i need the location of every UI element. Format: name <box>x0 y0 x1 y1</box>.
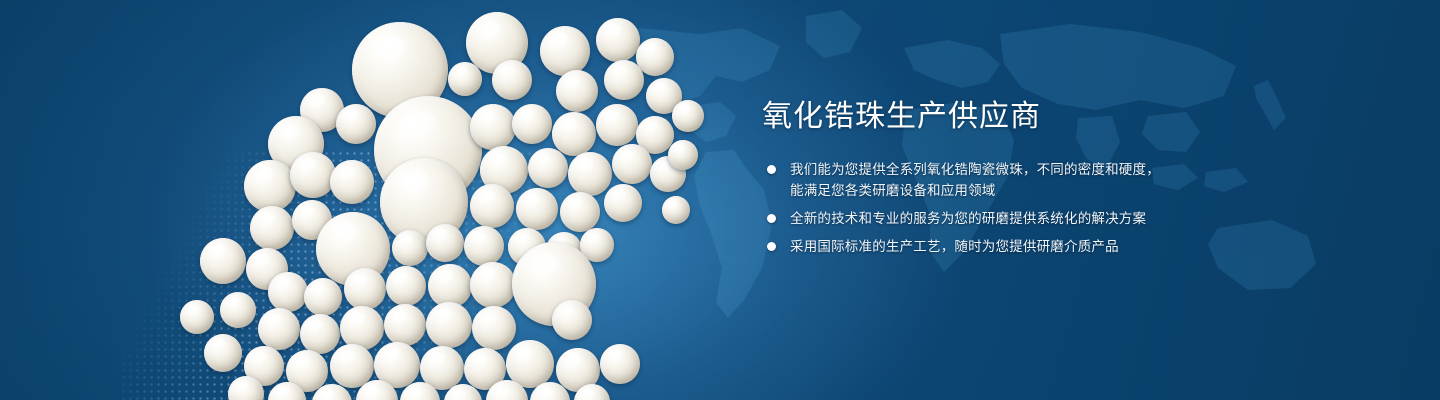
zirconia-bead <box>228 376 264 400</box>
zirconia-bead <box>246 248 288 290</box>
feature-bullet-line: 采用国际标准的生产工艺，随时为您提供研磨介质产品 <box>790 236 1232 257</box>
zirconia-bead <box>672 100 704 132</box>
zirconia-bead <box>552 300 592 340</box>
zirconia-bead <box>636 38 674 76</box>
bullet-dot-icon <box>767 242 776 251</box>
zirconia-bead <box>568 152 612 196</box>
bullet-dot-icon <box>767 165 776 174</box>
zirconia-bead <box>292 200 332 240</box>
zirconia-bead <box>386 266 426 306</box>
zirconia-bead <box>392 230 428 266</box>
zirconia-bead <box>426 302 472 348</box>
page-title: 氧化锆珠生产供应商 <box>762 100 1232 133</box>
zirconia-bead <box>530 382 570 400</box>
zirconia-bead <box>244 346 284 386</box>
zirconia-bead <box>180 300 214 334</box>
zirconia-bead <box>204 334 242 372</box>
zirconia-bead <box>492 60 532 100</box>
zirconia-bead <box>604 60 644 100</box>
zirconia-bead <box>546 232 582 268</box>
zirconia-bead <box>340 306 384 350</box>
zirconia-bead <box>420 346 464 390</box>
zirconia-bead <box>636 116 674 154</box>
zirconia-bead <box>258 308 300 350</box>
zirconia-bead <box>286 350 328 392</box>
zirconia-bead <box>200 238 246 284</box>
zirconia-bead <box>330 160 374 204</box>
zirconia-bead <box>516 188 558 230</box>
zirconia-bead <box>650 156 686 192</box>
zirconia-bead <box>512 242 596 326</box>
zirconia-bead <box>448 62 482 96</box>
zirconia-bead <box>486 380 528 400</box>
feature-bullet-line: 能满足您各类研磨设备和应用领域 <box>790 180 1232 201</box>
zirconia-bead <box>300 314 340 354</box>
zirconia-bead <box>268 116 324 172</box>
zirconia-bead <box>512 104 552 144</box>
zirconia-bead <box>344 268 386 310</box>
zirconia-bead <box>540 26 590 76</box>
zirconia-beads-image <box>0 0 760 400</box>
zirconia-bead <box>268 272 308 312</box>
banner-copy: 氧化锆珠生产供应商 我们能为您提供全系列氧化锆陶瓷微珠，不同的密度和硬度，能满足… <box>762 100 1232 257</box>
zirconia-bead <box>480 146 528 194</box>
zirconia-bead <box>580 228 614 262</box>
zirconia-bead <box>612 144 652 184</box>
zirconia-bead <box>596 104 638 146</box>
feature-bullet: 采用国际标准的生产工艺，随时为您提供研磨介质产品 <box>762 236 1232 257</box>
zirconia-bead <box>336 104 376 144</box>
zirconia-bead <box>668 140 698 170</box>
zirconia-bead <box>374 96 482 204</box>
zirconia-bead <box>374 342 420 388</box>
halftone-dot-texture <box>120 150 540 400</box>
zirconia-bead <box>220 292 256 328</box>
zirconia-bead <box>470 262 516 308</box>
zirconia-bead <box>444 384 482 400</box>
zirconia-bead <box>604 184 642 222</box>
bullet-dot-icon <box>767 214 776 223</box>
zirconia-bead <box>470 104 516 150</box>
zirconia-bead <box>380 158 468 246</box>
feature-bullet: 我们能为您提供全系列氧化锆陶瓷微珠，不同的密度和硬度，能满足您各类研磨设备和应用… <box>762 159 1232 201</box>
feature-bullet: 全新的技术和专业的服务为您的研磨提供系统化的解决方案 <box>762 208 1232 229</box>
zirconia-bead <box>600 344 640 384</box>
zirconia-bead <box>426 224 464 262</box>
zirconia-bead <box>560 192 600 232</box>
zirconia-bead <box>330 344 374 388</box>
zirconia-bead <box>506 340 554 388</box>
zirconia-bead <box>596 18 640 62</box>
zirconia-bead <box>312 384 352 400</box>
zirconia-bead <box>290 152 336 198</box>
feature-bullet-line: 全新的技术和专业的服务为您的研磨提供系统化的解决方案 <box>790 208 1232 229</box>
zirconia-bead <box>356 380 398 400</box>
zirconia-bead <box>300 88 344 132</box>
zirconia-bead <box>466 12 528 74</box>
zirconia-bead <box>428 264 472 308</box>
hero-banner: 氧化锆珠生产供应商 我们能为您提供全系列氧化锆陶瓷微珠，不同的密度和硬度，能满足… <box>0 0 1440 400</box>
zirconia-bead <box>244 160 296 212</box>
zirconia-bead <box>470 184 514 228</box>
zirconia-bead <box>574 384 610 400</box>
zirconia-bead <box>384 304 426 346</box>
zirconia-bead <box>662 196 690 224</box>
zirconia-bead <box>552 112 596 156</box>
zirconia-bead <box>250 206 294 250</box>
zirconia-bead <box>508 228 546 266</box>
zirconia-bead <box>646 78 682 114</box>
feature-bullet-line: 我们能为您提供全系列氧化锆陶瓷微珠，不同的密度和硬度， <box>790 159 1232 180</box>
zirconia-bead <box>352 22 448 118</box>
feature-bullet-list: 我们能为您提供全系列氧化锆陶瓷微珠，不同的密度和硬度，能满足您各类研磨设备和应用… <box>762 159 1232 257</box>
zirconia-bead <box>304 278 342 316</box>
zirconia-bead <box>400 382 440 400</box>
zirconia-bead <box>556 348 600 392</box>
zirconia-bead <box>556 70 598 112</box>
zirconia-bead <box>268 382 306 400</box>
zirconia-bead <box>528 148 568 188</box>
zirconia-bead <box>472 306 516 350</box>
zirconia-bead <box>464 348 506 390</box>
zirconia-bead <box>464 226 504 266</box>
zirconia-bead <box>316 212 390 286</box>
